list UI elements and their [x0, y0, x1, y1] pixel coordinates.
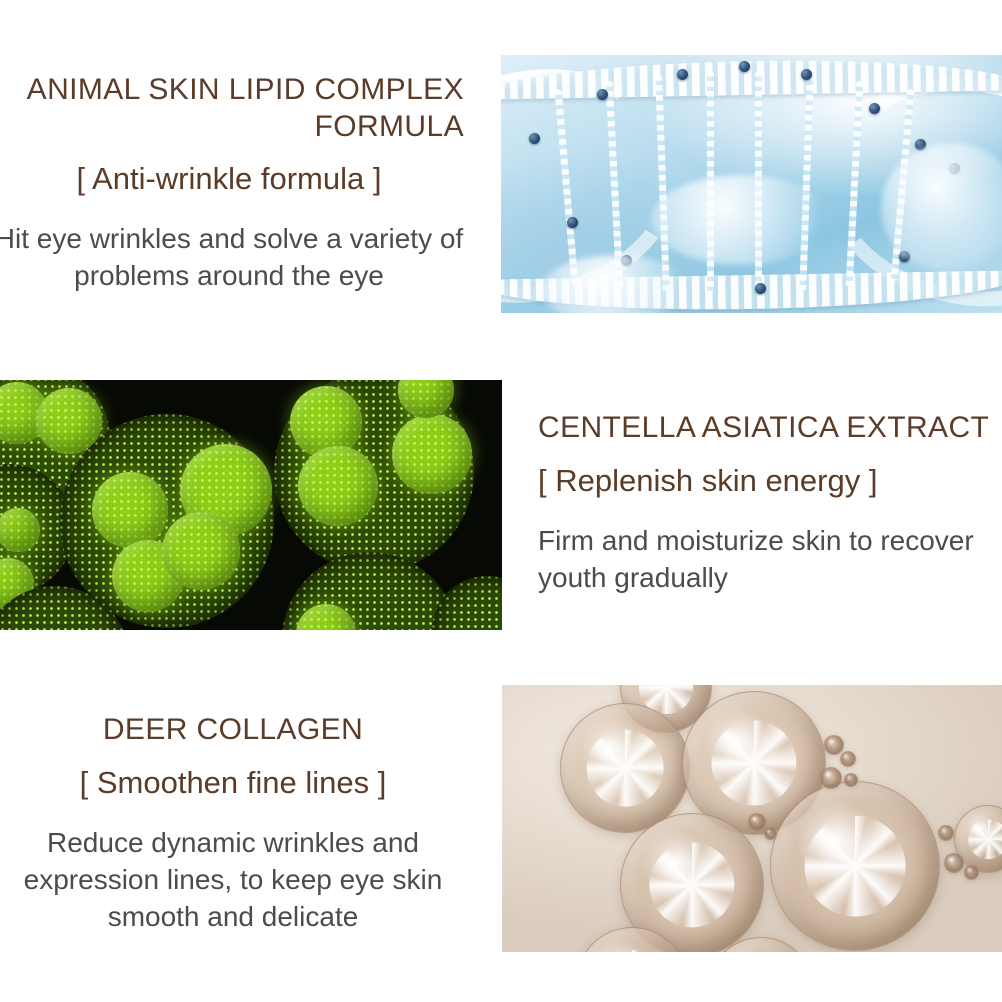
golden-collagen-bubbles-photo [502, 685, 1002, 952]
collagen-bubble-small [964, 865, 979, 880]
collagen-bubble [770, 781, 940, 951]
dna-accent-bead [739, 61, 750, 72]
dna-accent-bead [755, 283, 766, 294]
dna-illustration [501, 55, 1002, 313]
feature-body-centella: Firm and moisturize skin to recover yout… [538, 523, 1002, 597]
dna-base-pair-rung [799, 75, 814, 291]
dna-accent-bead [567, 217, 578, 228]
dna-blur-cluster [651, 175, 831, 265]
feature-subheading-collagen: [ Smoothen fine lines ] [0, 763, 466, 803]
collagen-bubble-small [824, 735, 844, 755]
collagen-bubble [560, 703, 690, 833]
dna-accent-bead [869, 103, 880, 114]
feature-body-collagen: Reduce dynamic wrinkles and expression l… [0, 825, 466, 936]
dna-double-helix-photo [501, 55, 1002, 313]
algae-colony [162, 512, 240, 590]
bubble-sparkle [587, 730, 664, 807]
bubble-sparkle [805, 816, 906, 917]
algae-colony [298, 446, 378, 526]
feature-heading-lipid: ANIMAL SKIN LIPID COMPLEX FORMULA [0, 72, 464, 145]
ingredient-infographic: ANIMAL SKIN LIPID COMPLEX FORMULA [ Anti… [0, 0, 1002, 1002]
algae-colony [392, 414, 472, 494]
collagen-bubble-small [764, 827, 777, 840]
feature-subheading-centella: [ Replenish skin energy ] [538, 461, 1002, 501]
feature-block-lipid: ANIMAL SKIN LIPID COMPLEX FORMULA [ Anti… [0, 72, 464, 295]
dna-accent-bead [529, 133, 540, 144]
bubble-sparkle [649, 842, 734, 927]
collagen-bubble-small [938, 825, 954, 841]
feature-body-lipid: Hit eye wrinkles and solve a variety of … [0, 221, 464, 295]
feature-block-collagen: DEER COLLAGEN [ Smoothen fine lines ] Re… [0, 712, 466, 936]
collagen-bubble-small [840, 751, 856, 767]
green-algae-cells-photo [0, 380, 502, 630]
collagen-bubble-small [748, 813, 766, 831]
bubble-sparkle [599, 950, 665, 952]
algae-colony [432, 576, 502, 630]
algae-colony [92, 472, 168, 548]
feature-block-centella: CENTELLA ASIATICA EXTRACT [ Replenish sk… [538, 410, 1002, 597]
collagen-bubble-small [820, 767, 842, 789]
dna-accent-bead [801, 69, 812, 80]
bubble-sparkle [968, 819, 1002, 859]
bubble-sparkle [711, 720, 796, 805]
dna-accent-bead [597, 89, 608, 100]
feature-subheading-lipid: [ Anti-wrinkle formula ] [0, 159, 464, 199]
collagen-bubble-small [844, 773, 858, 787]
feature-heading-centella: CENTELLA ASIATICA EXTRACT [538, 410, 1002, 447]
feature-heading-collagen: DEER COLLAGEN [0, 712, 466, 749]
dna-accent-bead [677, 69, 688, 80]
collagen-bubble-small [944, 853, 964, 873]
